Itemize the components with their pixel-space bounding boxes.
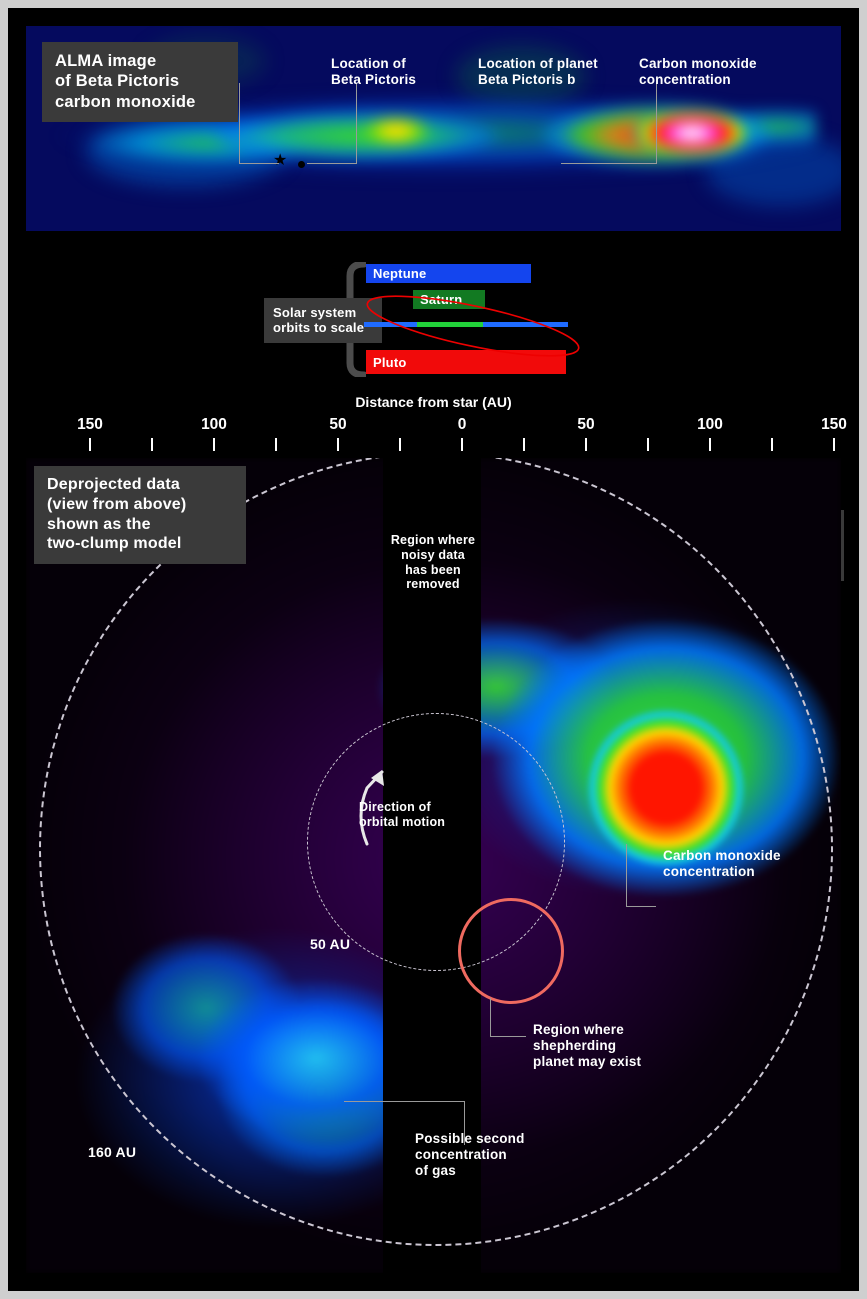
axis-tick xyxy=(585,438,587,451)
axis-tick xyxy=(213,438,215,451)
axis-tick xyxy=(151,438,153,451)
noisy-line-1: Region where xyxy=(387,533,479,548)
leader-gas-horizontal xyxy=(344,1101,464,1102)
deprojected-panel-title: Deprojected data (view from above) shown… xyxy=(34,466,246,564)
leader-planet-horizontal xyxy=(307,163,357,164)
deprojected-data-panel: Deprojected data (view from above) shown… xyxy=(26,458,841,1273)
axis-tick xyxy=(833,438,835,451)
pluto-orbit-ellipse-icon xyxy=(362,290,584,362)
axis-tick xyxy=(647,438,649,451)
ring-label-160au: 160 AU xyxy=(88,1144,136,1161)
alma-title-line-3: carbon monoxide xyxy=(55,92,225,112)
axis-tick xyxy=(337,438,339,451)
axis-label-0: 150 xyxy=(77,416,103,434)
annotation-planet-line-2: Beta Pictoris b xyxy=(478,72,598,88)
leader-star-horizontal xyxy=(239,163,279,164)
shepherding-planet-circle xyxy=(458,898,564,1004)
axis-title: Distance from star (AU) xyxy=(26,394,841,410)
deproj-title-line-4: two-clump model xyxy=(47,534,233,554)
axis-label-3: 0 xyxy=(458,416,467,434)
planet-marker-icon xyxy=(298,161,305,168)
orbits-label-line-1: Solar system xyxy=(273,305,373,320)
alma-image-panel: ★ ALMA image of Beta Pictoris carbon mon… xyxy=(26,26,841,231)
leader-co-vertical xyxy=(656,83,657,163)
annotation-planet-line-1: Location of planet xyxy=(478,56,598,72)
star-marker-icon: ★ xyxy=(273,153,287,169)
noisy-region-label: Region where noisy data has been removed xyxy=(387,533,479,592)
alma-title-line-1: ALMA image xyxy=(55,51,225,71)
orbital-motion-line-1: Direction of xyxy=(359,800,469,815)
leader-co2-vertical xyxy=(626,844,627,906)
co-concentration-label: Carbon monoxide concentration xyxy=(663,848,823,880)
orbital-motion-line-2: orbital motion xyxy=(359,815,469,830)
deproj-title-line-2: (view from above) xyxy=(47,495,233,515)
gas-line-1: Possible second xyxy=(415,1131,565,1147)
axis-tick xyxy=(771,438,773,451)
orbit-bar-neptune-label: Neptune xyxy=(366,266,426,281)
axis-tick xyxy=(399,438,401,451)
annotation-co-line-1: Carbon monoxide xyxy=(639,56,757,72)
annotation-co-concentration: Carbon monoxide concentration xyxy=(639,56,757,88)
leader-planet-vertical xyxy=(356,83,357,163)
axis-tick xyxy=(461,438,463,451)
leader-co-horizontal xyxy=(561,163,657,164)
figure-canvas: ★ ALMA image of Beta Pictoris carbon mon… xyxy=(8,8,859,1291)
axis-label-2: 50 xyxy=(329,416,346,434)
deproj-title-line-1: Deprojected data xyxy=(47,475,233,495)
shepherd-line-3: planet may exist xyxy=(533,1054,693,1070)
alma-title-line-2: of Beta Pictoris xyxy=(55,71,225,91)
annotation-star-line-1: Location of xyxy=(331,56,416,72)
orbits-label-line-2: orbits to scale xyxy=(273,320,373,335)
axis-label-4: 50 xyxy=(577,416,594,434)
ring-label-50au: 50 AU xyxy=(310,936,350,953)
axis-tick xyxy=(523,438,525,451)
annotation-planet-location: Location of planet Beta Pictoris b xyxy=(478,56,598,88)
axis-tick xyxy=(709,438,711,451)
axis-label-5: 100 xyxy=(697,416,723,434)
co2-line-1: Carbon monoxide xyxy=(663,848,823,864)
alma-panel-title: ALMA image of Beta Pictoris carbon monox… xyxy=(42,42,238,122)
deproj-title-line-3: shown as the xyxy=(47,515,233,535)
annotation-star-line-2: Beta Pictoris xyxy=(331,72,416,88)
orbital-motion-label: Direction of orbital motion xyxy=(359,800,469,830)
noisy-line-3: has been xyxy=(387,563,479,578)
shepherd-line-1: Region where xyxy=(533,1022,693,1038)
orbit-bar-neptune: Neptune xyxy=(366,264,531,283)
shepherding-planet-label: Region where shepherding planet may exis… xyxy=(533,1022,693,1070)
noisy-line-4: removed xyxy=(387,577,479,592)
axis-label-6: 150 xyxy=(821,416,847,434)
leader-star-vertical xyxy=(239,83,240,163)
shepherd-line-2: shepherding xyxy=(533,1038,693,1054)
gas-line-2: concentration xyxy=(415,1147,565,1163)
leader-shepherd-horizontal xyxy=(490,1036,526,1037)
annotation-star-location: Location of Beta Pictoris xyxy=(331,56,416,88)
noisy-line-2: noisy data xyxy=(387,548,479,563)
axis-tick xyxy=(275,438,277,451)
leader-co2-horizontal xyxy=(626,906,656,907)
distance-axis: Distance from star (AU) 150 100 50 0 50 … xyxy=(26,394,841,452)
co2-line-2: concentration xyxy=(663,864,823,880)
solar-system-scale-band: Solar system orbits to scale Neptune Sat… xyxy=(26,236,841,381)
leader-shepherd-vertical xyxy=(490,998,491,1036)
annotation-co-line-2: concentration xyxy=(639,72,757,88)
second-gas-label: Possible second concentration of gas xyxy=(415,1131,565,1179)
infographic-root: ★ ALMA image of Beta Pictoris carbon mon… xyxy=(0,0,867,1299)
axis-tick xyxy=(89,438,91,451)
axis-label-1: 100 xyxy=(201,416,227,434)
gas-line-3: of gas xyxy=(415,1163,565,1179)
